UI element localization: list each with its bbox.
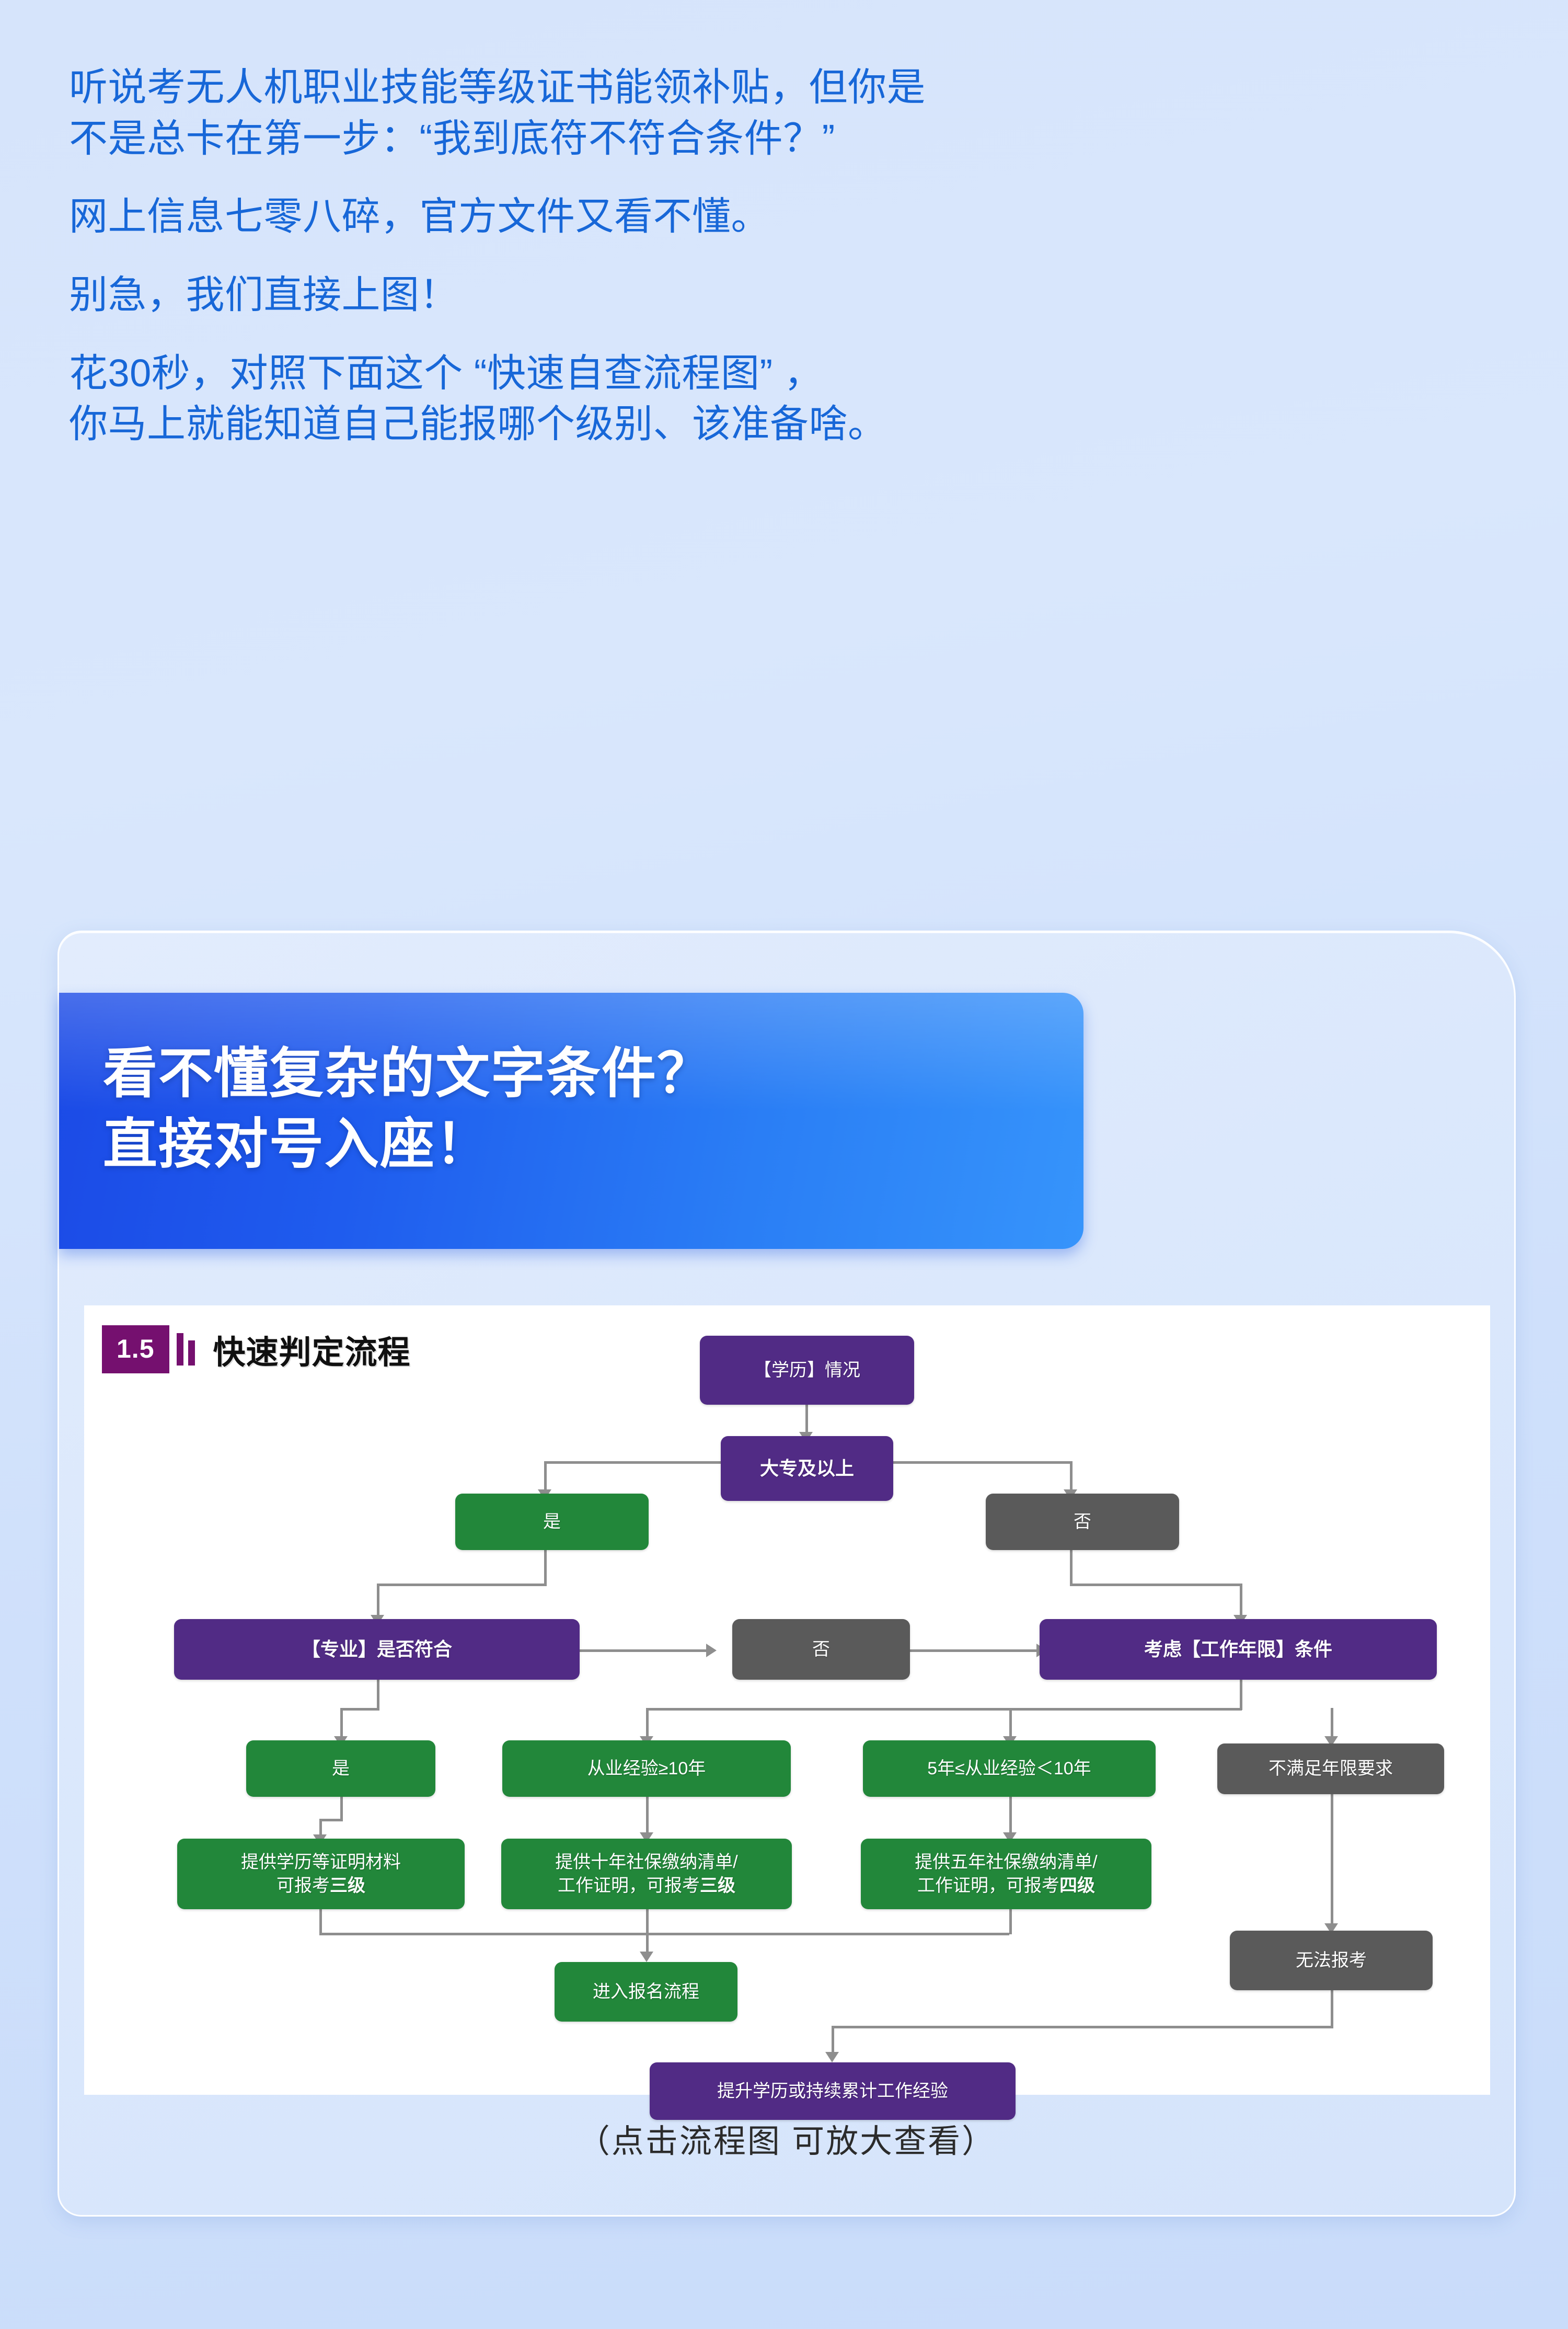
connector-line xyxy=(340,1708,379,1711)
intro-copy: 听说考无人机职业技能等级证书能领补贴，但你是 不是总卡在第一步：“我到底符不符合… xyxy=(69,62,1512,450)
connector-line xyxy=(377,1584,547,1586)
connector-arrow xyxy=(825,2052,839,2062)
node-major-match[interactable]: 【专业】是否符合 xyxy=(174,1619,580,1680)
section-title: 快速判定流程 xyxy=(213,1326,411,1373)
connector-line xyxy=(377,1680,379,1710)
connector-line xyxy=(319,1819,343,1821)
section-bars-icon xyxy=(177,1333,200,1366)
intro-line: 不是总卡在第一步：“我到底符不符合条件？” xyxy=(69,113,1512,164)
connector-line xyxy=(1331,1708,1333,1740)
intro-line: 听说考无人机职业技能等级证书能领补贴，但你是 xyxy=(69,62,1512,113)
connector-line xyxy=(377,1584,379,1619)
node-yes-education[interactable]: 是 xyxy=(455,1494,649,1550)
connector-line xyxy=(340,1708,343,1740)
connector-line xyxy=(544,1461,547,1494)
node-no-education[interactable]: 否 xyxy=(986,1494,1179,1550)
node-cannot-apply[interactable]: 无法报考 xyxy=(1230,1931,1433,1990)
node-education[interactable]: 【学历】情况 xyxy=(700,1336,914,1405)
connector-arrow xyxy=(640,1952,653,1962)
node-result-level4-social[interactable]: 提供五年社保缴纳清单/ 工作证明，可报考四级 xyxy=(861,1839,1151,1909)
connector-line xyxy=(544,1550,547,1586)
connector-line xyxy=(1009,1708,1012,1740)
result-line-1: 提供学历等证明材料 xyxy=(241,1851,401,1874)
node-result-level3-education[interactable]: 提供学历等证明材料 可报考三级 xyxy=(177,1839,465,1909)
headline-banner-text: 看不懂复杂的文字条件？ 直接对号入座！ xyxy=(59,993,1083,1180)
connector-line xyxy=(646,1708,1242,1711)
node-no-major[interactable]: 否 xyxy=(732,1619,910,1680)
connector-line xyxy=(1240,1680,1242,1710)
intro-paragraph-1: 听说考无人机职业技能等级证书能领补贴，但你是 不是总卡在第一步：“我到底符不符合… xyxy=(69,62,1512,164)
connector-line xyxy=(646,1909,649,1955)
intro-line: 花30秒，对照下面这个 “快速自查流程图” ， xyxy=(69,348,1512,399)
result-line-2: 工作证明，可报考四级 xyxy=(917,1874,1095,1897)
connector-line xyxy=(1331,1990,1333,2028)
node-consider-years[interactable]: 考虑【工作年限】条件 xyxy=(1040,1619,1437,1680)
node-college-or-above[interactable]: 大专及以上 xyxy=(721,1436,893,1501)
result-line-2: 工作证明，可报考三级 xyxy=(558,1874,735,1897)
intro-line: 你马上就能知道自己能报哪个级别、该准备啥。 xyxy=(69,398,1512,450)
section-heading: 1.5 快速判定流程 xyxy=(102,1325,411,1373)
flowchart-caption: （点击流程图 可放大查看） xyxy=(59,2115,1514,2162)
node-not-meet-years[interactable]: 不满足年限要求 xyxy=(1217,1743,1444,1794)
node-improve-education[interactable]: 提升学历或持续累计工作经验 xyxy=(650,2062,1016,2120)
headline-banner: 看不懂复杂的文字条件？ 直接对号入座！ xyxy=(59,993,1083,1249)
node-enter-registration[interactable]: 进入报名流程 xyxy=(555,1962,737,2022)
connector-line xyxy=(646,1708,649,1740)
node-yes-major[interactable]: 是 xyxy=(246,1740,435,1797)
headline-line-2: 直接对号入座！ xyxy=(103,1109,1083,1180)
result-line-2: 可报考三级 xyxy=(276,1874,365,1897)
intro-paragraph-2: 网上信息七零八碎，官方文件又看不懂。 xyxy=(69,191,1512,242)
connector-arrow xyxy=(706,1644,717,1657)
connector-line xyxy=(1331,1794,1333,1928)
result-line-1: 提供五年社保缴纳清单/ xyxy=(915,1851,1097,1874)
connector-line xyxy=(646,1797,649,1836)
flowchart-card: 看不懂复杂的文字条件？ 直接对号入座！ 1.5 快速判定流程 xyxy=(57,931,1516,2217)
connector-line xyxy=(1240,1584,1242,1619)
node-result-level3-social[interactable]: 提供十年社保缴纳清单/ 工作证明，可报考三级 xyxy=(501,1839,792,1909)
connector-line xyxy=(319,1909,322,1935)
connector-line xyxy=(910,1649,1038,1652)
connector-line xyxy=(1070,1550,1073,1586)
intro-paragraph-3: 别急，我们直接上图！ xyxy=(69,269,1512,320)
intro-line: 网上信息七零八碎，官方文件又看不懂。 xyxy=(69,191,1512,242)
connector-line xyxy=(1009,1797,1012,1836)
connector-line xyxy=(580,1649,708,1652)
headline-line-1: 看不懂复杂的文字条件？ xyxy=(103,1039,1083,1109)
connector-line xyxy=(832,2026,1333,2028)
connector-line xyxy=(1070,1584,1242,1586)
node-exp-ge-10[interactable]: 从业经验≥10年 xyxy=(502,1740,791,1797)
connector-line xyxy=(1009,1909,1012,1934)
intro-line: 别急，我们直接上图！ xyxy=(69,269,1512,320)
section-number-badge: 1.5 xyxy=(102,1325,169,1373)
connector-line xyxy=(340,1797,343,1820)
connector-line xyxy=(319,1933,1009,1935)
result-line-1: 提供十年社保缴纳清单/ xyxy=(555,1851,737,1874)
flowchart-panel[interactable]: 1.5 快速判定流程 xyxy=(84,1305,1490,2095)
node-exp-5-to-10[interactable]: 5年≤从业经验＜10年 xyxy=(863,1740,1156,1797)
connector-line xyxy=(805,1405,808,1436)
intro-paragraph-4: 花30秒，对照下面这个 “快速自查流程图” ， 你马上就能知道自己能报哪个级别、… xyxy=(69,348,1512,450)
connector-line xyxy=(1070,1461,1073,1494)
